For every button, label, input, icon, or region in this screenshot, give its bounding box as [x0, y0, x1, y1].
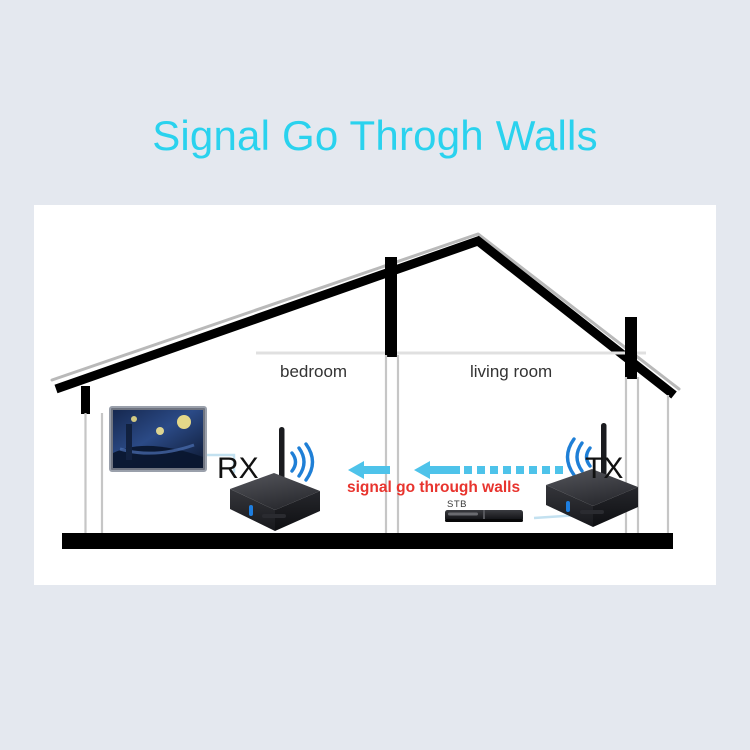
house-cross-section-diagram	[34, 205, 716, 585]
stb-device	[445, 510, 523, 522]
room-label-bedroom: bedroom	[280, 362, 347, 382]
page-title: Signal Go Throgh Walls	[0, 112, 750, 160]
arrow-left-icon-1	[348, 461, 390, 479]
right-wall-black	[625, 317, 637, 379]
room-label-living-room: living room	[470, 362, 552, 382]
diagram-panel: bedroom living room RX TX signal go thro…	[34, 205, 716, 585]
floor-slab	[62, 533, 673, 549]
device-label-stb: STB	[447, 499, 467, 510]
tv-device	[110, 407, 206, 471]
arrow-left-icon-2	[414, 461, 460, 479]
dotted-signal-trail-icon	[464, 466, 563, 474]
roof-structure	[56, 241, 674, 395]
rx-wifi-waves	[292, 444, 313, 480]
signal-annotation-label: signal go through walls	[347, 479, 520, 497]
signal-arrows	[348, 461, 563, 479]
left-wall-stub	[81, 386, 90, 414]
center-wall-black	[385, 257, 397, 357]
device-label-rx: RX	[217, 452, 259, 486]
page-root: Signal Go Throgh Walls	[0, 0, 750, 750]
device-label-tx: TX	[585, 452, 623, 486]
roof-outline	[52, 234, 679, 389]
